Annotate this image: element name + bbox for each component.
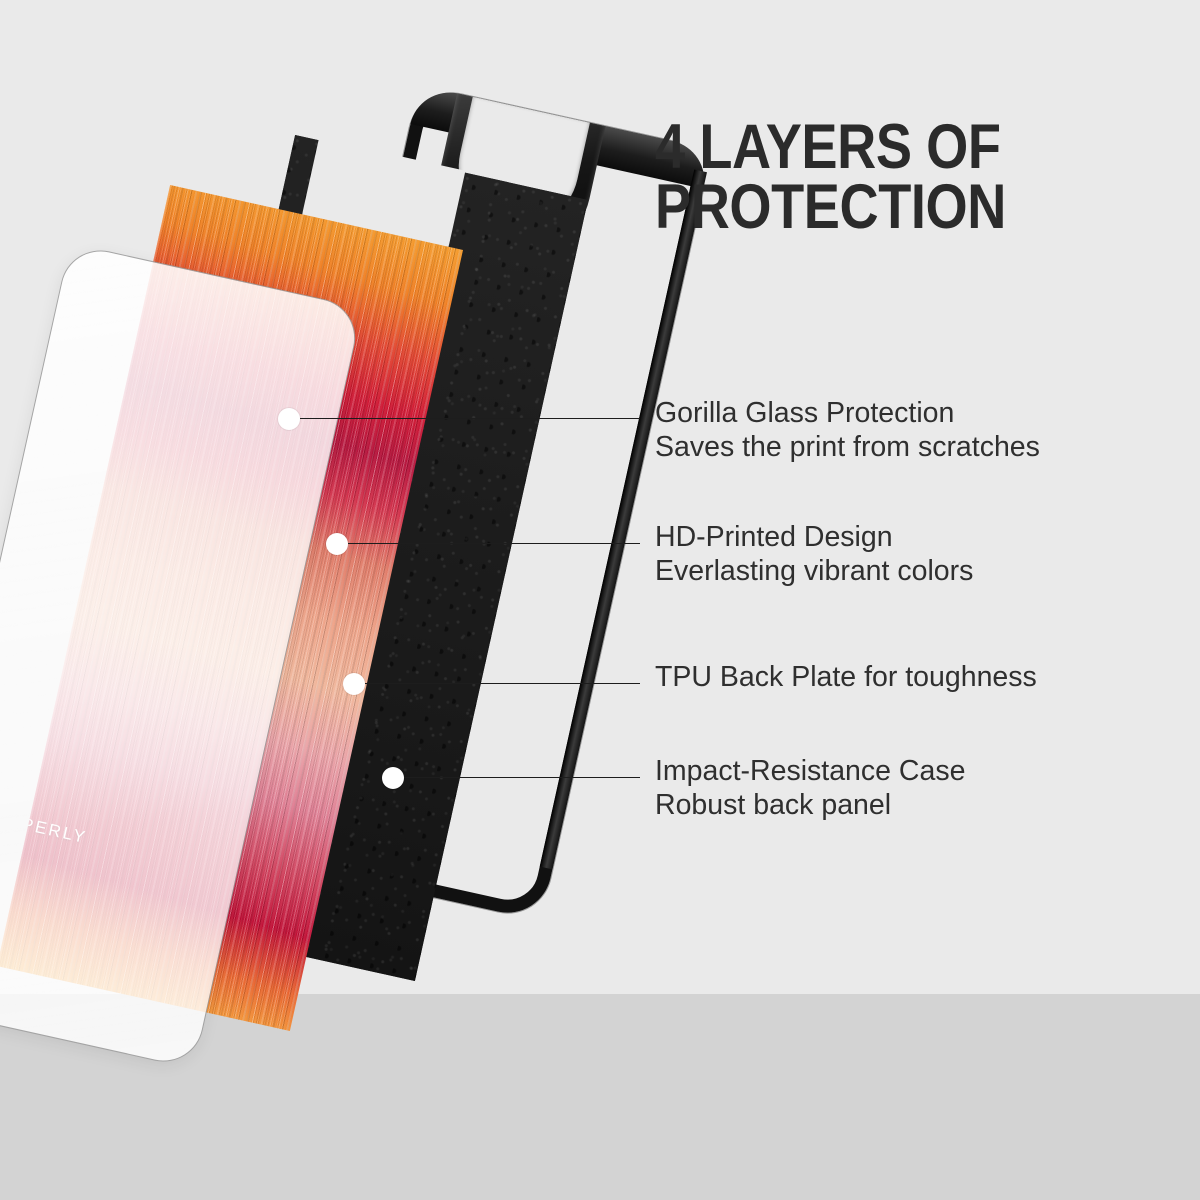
callout-title: Impact-Resistance Case (655, 755, 965, 787)
callout-leader-line (365, 683, 640, 684)
callout-dot (326, 533, 348, 555)
product-infographic: EEPERLY 4 LAYERS OF PROTECTION Gorilla G… (0, 0, 1200, 1200)
callout-title: Gorilla Glass Protection (655, 397, 954, 429)
callout-text: TPU Back Plate for toughness (655, 661, 1037, 695)
callout-subtitle: Everlasting vibrant colors (655, 555, 973, 589)
headline-line-2: PROTECTION (655, 178, 1102, 238)
callout-text: Impact-Resistance Case Robust back panel (655, 755, 965, 822)
callout-dot (382, 767, 404, 789)
callout-subtitle: Saves the print from scratches (655, 431, 1040, 465)
callout-dot (278, 408, 300, 430)
callout-dot (343, 673, 365, 695)
callout-title: HD-Printed Design (655, 521, 893, 553)
callout-title: TPU Back Plate for toughness (655, 661, 1037, 693)
headline-line-1: 4 LAYERS OF (655, 118, 1102, 178)
callout-leader-line (300, 418, 640, 419)
page-title: 4 LAYERS OF PROTECTION (655, 118, 1102, 238)
callout-text: Gorilla Glass Protection Saves the print… (655, 397, 1040, 464)
callout-subtitle: Robust back panel (655, 789, 965, 823)
callout-text: HD-Printed Design Everlasting vibrant co… (655, 521, 973, 588)
callout-leader-line (348, 543, 640, 544)
callout-leader-line (404, 777, 640, 778)
